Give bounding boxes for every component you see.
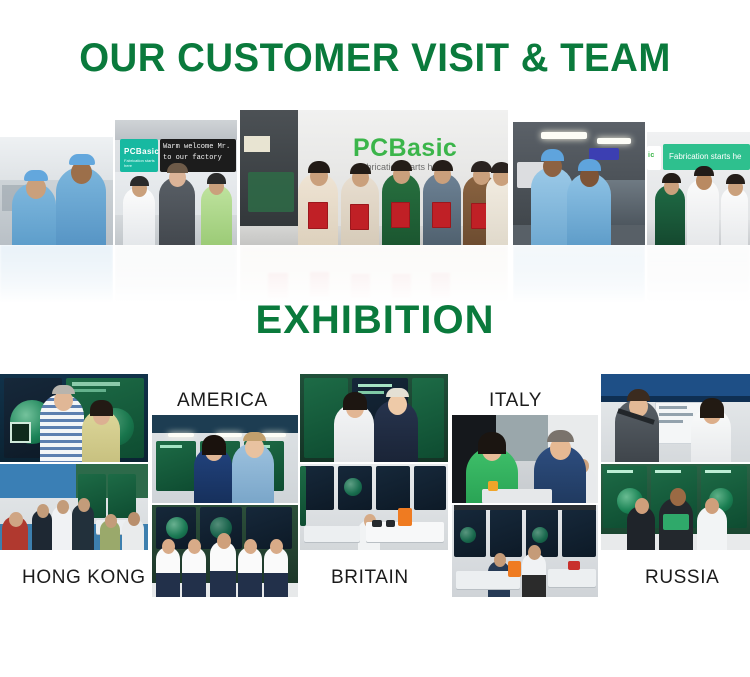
photo-reflection: [115, 245, 237, 303]
visit-photo-4: [513, 122, 645, 245]
exhibition-label-america: AMERICA: [177, 390, 268, 412]
photo-reflection: [240, 245, 508, 303]
uk-photo-bottom: [300, 464, 448, 550]
page-root: OUR CUSTOMER VISIT & TEAM PCBasic: [0, 0, 750, 677]
hk-photo-bottom: [0, 464, 148, 550]
page-title: OUR CUSTOMER VISIT & TEAM: [15, 36, 735, 80]
uk-photo-top: [300, 374, 448, 462]
hk-photo-top: [0, 374, 148, 462]
exhibition-label-russia: RUSSIA: [645, 567, 719, 589]
photo-reflection: [647, 245, 750, 303]
visit-photo-2: PCBasic Fabrication starts here Warm wel…: [115, 120, 237, 245]
exhibition-label-britain: BRITAIN: [331, 567, 409, 589]
exhibition-title: EXHIBITION: [0, 298, 750, 342]
exhibition-label-italy: ITALY: [489, 390, 542, 412]
it-photo-top: [452, 415, 598, 503]
visit-photo-5: ic Fabrication starts he: [647, 132, 750, 245]
visit-photo-1: [0, 137, 113, 245]
exhibition-label-hong-kong: HONG KONG: [22, 567, 146, 589]
ru-photo-bottom: [601, 464, 750, 550]
it-photo-bottom: [452, 505, 598, 597]
visit-photo-3: PCBasic Fabrication starts here: [240, 110, 508, 245]
photo-reflection: [0, 245, 113, 303]
us-photo-top: [152, 415, 298, 503]
photo-reflection: [513, 245, 645, 303]
ru-photo-top: [601, 374, 750, 462]
us-photo-bottom: [152, 505, 298, 597]
